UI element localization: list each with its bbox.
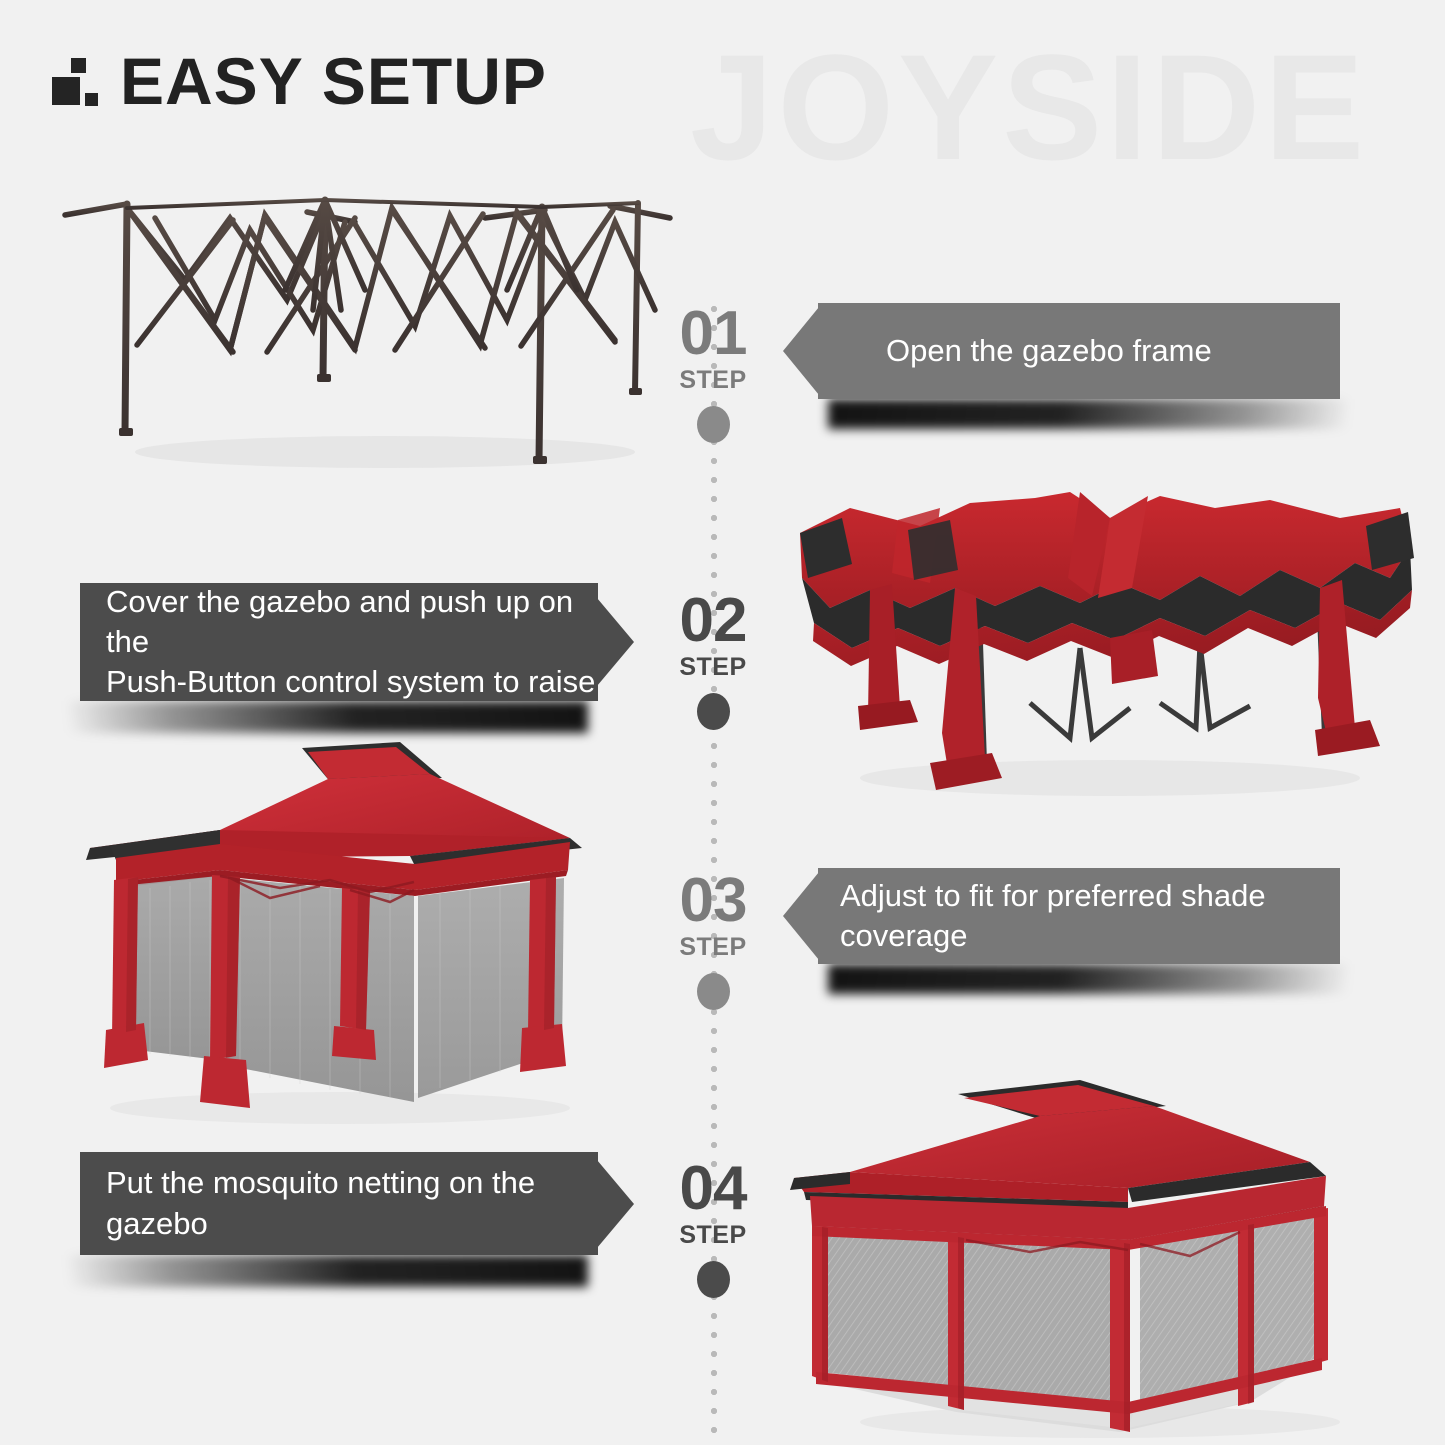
gazebo-draped-canopy-photo: [780, 478, 1420, 818]
step-marker-03: 03 STEP: [628, 872, 798, 1010]
step-marker-02: 02 STEP: [628, 592, 798, 730]
step-text-02: Cover the gazebo and push up on the Push…: [106, 582, 598, 703]
step-number-03: 03: [628, 872, 798, 931]
step-text-01: Open the gazebo frame: [886, 331, 1212, 371]
step-number-01: 01: [628, 305, 798, 364]
gazebo-with-mosquito-netting-photo: [780, 1050, 1400, 1445]
brand-watermark: JOYSIDE: [690, 32, 1368, 182]
step-text-02-line1: Cover the gazebo and push up on the: [106, 582, 598, 663]
step-word-04: STEP: [628, 1221, 798, 1250]
step-text-04: Put the mosquito netting on the gazebo: [106, 1163, 598, 1244]
gazebo-frame-photo: [55, 160, 680, 480]
step-marker-01: 01 STEP: [628, 305, 798, 443]
step-number-04: 04: [628, 1160, 798, 1219]
step-word-03: STEP: [628, 933, 798, 962]
step-banner-02[interactable]: Cover the gazebo and push up on the Push…: [80, 583, 598, 701]
page-header: EASY SETUP: [52, 48, 547, 114]
banner-arrow-left-01: [783, 307, 819, 395]
step-marker-04: 04 STEP: [628, 1160, 798, 1298]
infographic-page: JOYSIDE EASY SETUP: [0, 0, 1445, 1445]
step-banner-01[interactable]: Open the gazebo frame: [818, 303, 1340, 399]
step-word-02: STEP: [628, 653, 798, 682]
step-number-02: 02: [628, 592, 798, 651]
step-banner-04[interactable]: Put the mosquito netting on the gazebo: [80, 1152, 598, 1255]
banner-arrow-right-02: [597, 598, 634, 686]
page-title: EASY SETUP: [120, 48, 547, 114]
banner-arrow-left-03: [783, 872, 819, 960]
step-text-02-line2: Push-Button control system to raise: [106, 662, 598, 702]
step-text-03: Adjust to fit for preferred shade covera…: [840, 876, 1340, 957]
blocks-icon: [52, 50, 98, 112]
step-dot-02: [697, 693, 730, 730]
banner-arrow-right-04: [597, 1160, 634, 1248]
step-dot-04: [697, 1261, 730, 1298]
step-word-01: STEP: [628, 366, 798, 395]
step-dot-01: [697, 406, 730, 443]
step-banner-03[interactable]: Adjust to fit for preferred shade covera…: [818, 868, 1340, 964]
step-dot-03: [697, 973, 730, 1010]
gazebo-raised-with-curtains-photo: [70, 730, 615, 1130]
